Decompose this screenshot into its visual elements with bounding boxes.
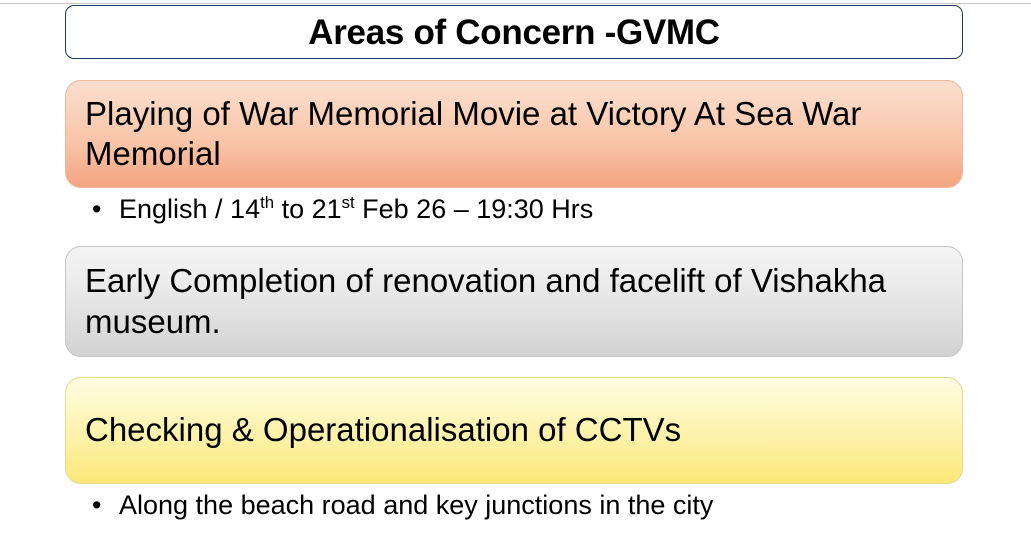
bullet-point-icon: • (92, 491, 119, 521)
ordinal-suffix-th: th (260, 193, 274, 212)
slide-title-box: Areas of Concern -GVMC (65, 5, 963, 59)
concern-card-heading: Checking & Operationalisation of CCTVs (66, 410, 699, 450)
bullet-text-part-1: English / 14 (119, 194, 260, 224)
list-item-label: English / 14th to 21st Feb 26 – 19:30 Hr… (119, 195, 593, 225)
list-item-label: Along the beach road and key junctions i… (119, 491, 713, 521)
bullet-text-part-2: to 21 (274, 194, 342, 224)
concern-card-heading: Early Completion of renovation and facel… (66, 261, 962, 342)
list-item: • English / 14th to 21st Feb 26 – 19:30 … (92, 195, 593, 225)
concern-card-war-memorial-movie[interactable]: Playing of War Memorial Movie at Victory… (65, 80, 963, 188)
concern-card-heading: Playing of War Memorial Movie at Victory… (66, 94, 962, 175)
page-title: Areas of Concern -GVMC (308, 15, 720, 50)
bullet-point-icon: • (92, 195, 119, 225)
top-divider-rule (0, 3, 1031, 4)
bullet-text-part-3: Feb 26 – 19:30 Hrs (355, 194, 594, 224)
ordinal-suffix-st: st (342, 193, 355, 212)
concern-card-vishakha-museum[interactable]: Early Completion of renovation and facel… (65, 246, 963, 357)
concern-card-cctv-operationalisation[interactable]: Checking & Operationalisation of CCTVs (65, 377, 963, 484)
list-item: • Along the beach road and key junctions… (92, 491, 713, 521)
